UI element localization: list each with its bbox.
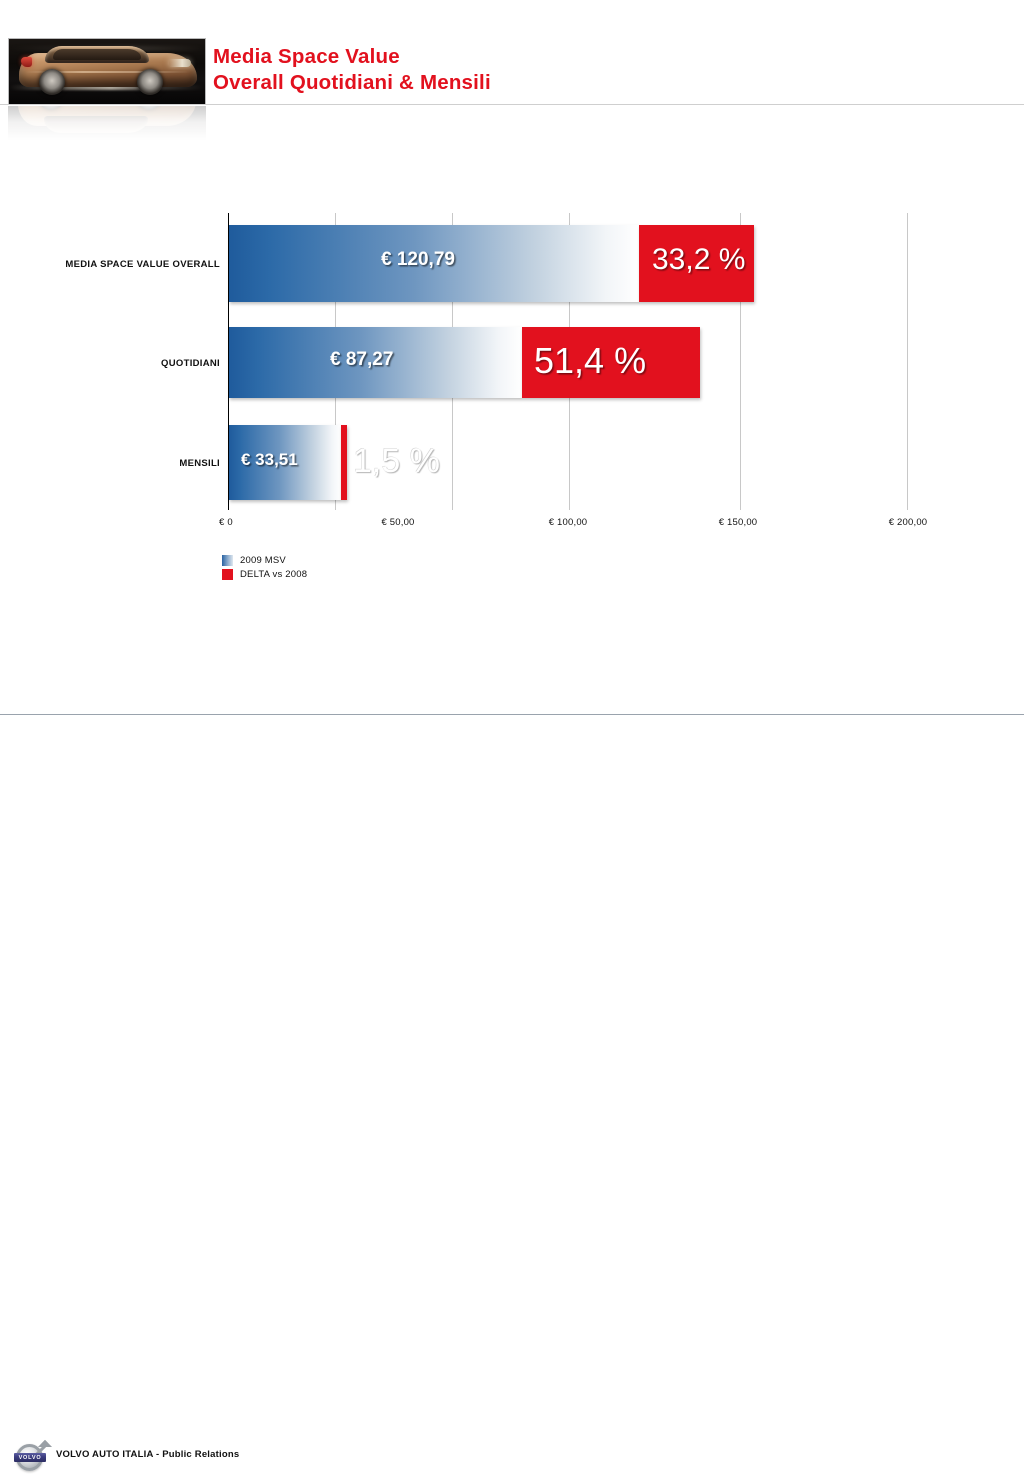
tick-label-200: € 200,00: [889, 517, 928, 528]
category-label-mensili: MENSILI: [10, 458, 220, 469]
bar-value-label-mensili: € 33,51: [241, 450, 298, 470]
tick-label-0: € 0: [219, 517, 233, 528]
volvo-logo-icon: VOLVO: [14, 1440, 48, 1474]
bar-value-label-quotidiani: € 87,27: [330, 349, 393, 371]
delta-value-label-overall: 33,2 %: [652, 243, 745, 277]
gridline-right-edge: [907, 213, 908, 510]
tick-label-150: € 150,00: [719, 517, 758, 528]
legend-swatch-msv-icon: [222, 555, 233, 566]
legend-item-delta[interactable]: DELTA vs 2008: [222, 568, 307, 580]
bar-delta-mensili[interactable]: [341, 425, 347, 500]
legend-label-delta: DELTA vs 2008: [240, 569, 307, 580]
delta-value-label-quotidiani: 51,4 %: [534, 340, 646, 382]
footer-company-text: VOLVO AUTO ITALIA - Public Relations: [56, 1449, 239, 1460]
slide-footer: VOLVO VOLVO AUTO ITALIA - Public Relatio…: [0, 715, 1024, 768]
legend-swatch-delta-icon: [222, 569, 233, 580]
bar-row-quotidiani[interactable]: € 87,27 51,4 %: [229, 327, 700, 398]
bar-row-mensili[interactable]: € 33,51: [229, 425, 347, 500]
bar-row-overall[interactable]: € 120,79 33,2 %: [229, 225, 754, 302]
category-label-quotidiani: QUOTIDIANI: [10, 358, 220, 369]
tick-label-100: € 100,00: [549, 517, 588, 528]
legend-label-msv: 2009 MSV: [240, 555, 286, 566]
category-label-overall: MEDIA SPACE VALUE OVERALL: [10, 259, 220, 270]
volvo-wordmark-text: VOLVO: [19, 1455, 42, 1461]
volvo-arrow-icon: [36, 1442, 47, 1453]
volvo-wordmark-bar: VOLVO: [14, 1453, 46, 1462]
chart-legend: 2009 MSV DELTA vs 2008: [222, 554, 307, 582]
tick-label-50: € 50,00: [381, 517, 414, 528]
bar-chart: MEDIA SPACE VALUE OVERALL € 120,79 33,2 …: [0, 0, 1024, 768]
delta-value-label-mensili: 1,5 %: [353, 442, 440, 481]
legend-item-msv[interactable]: 2009 MSV: [222, 554, 307, 566]
bar-value-label-overall: € 120,79: [381, 249, 455, 271]
